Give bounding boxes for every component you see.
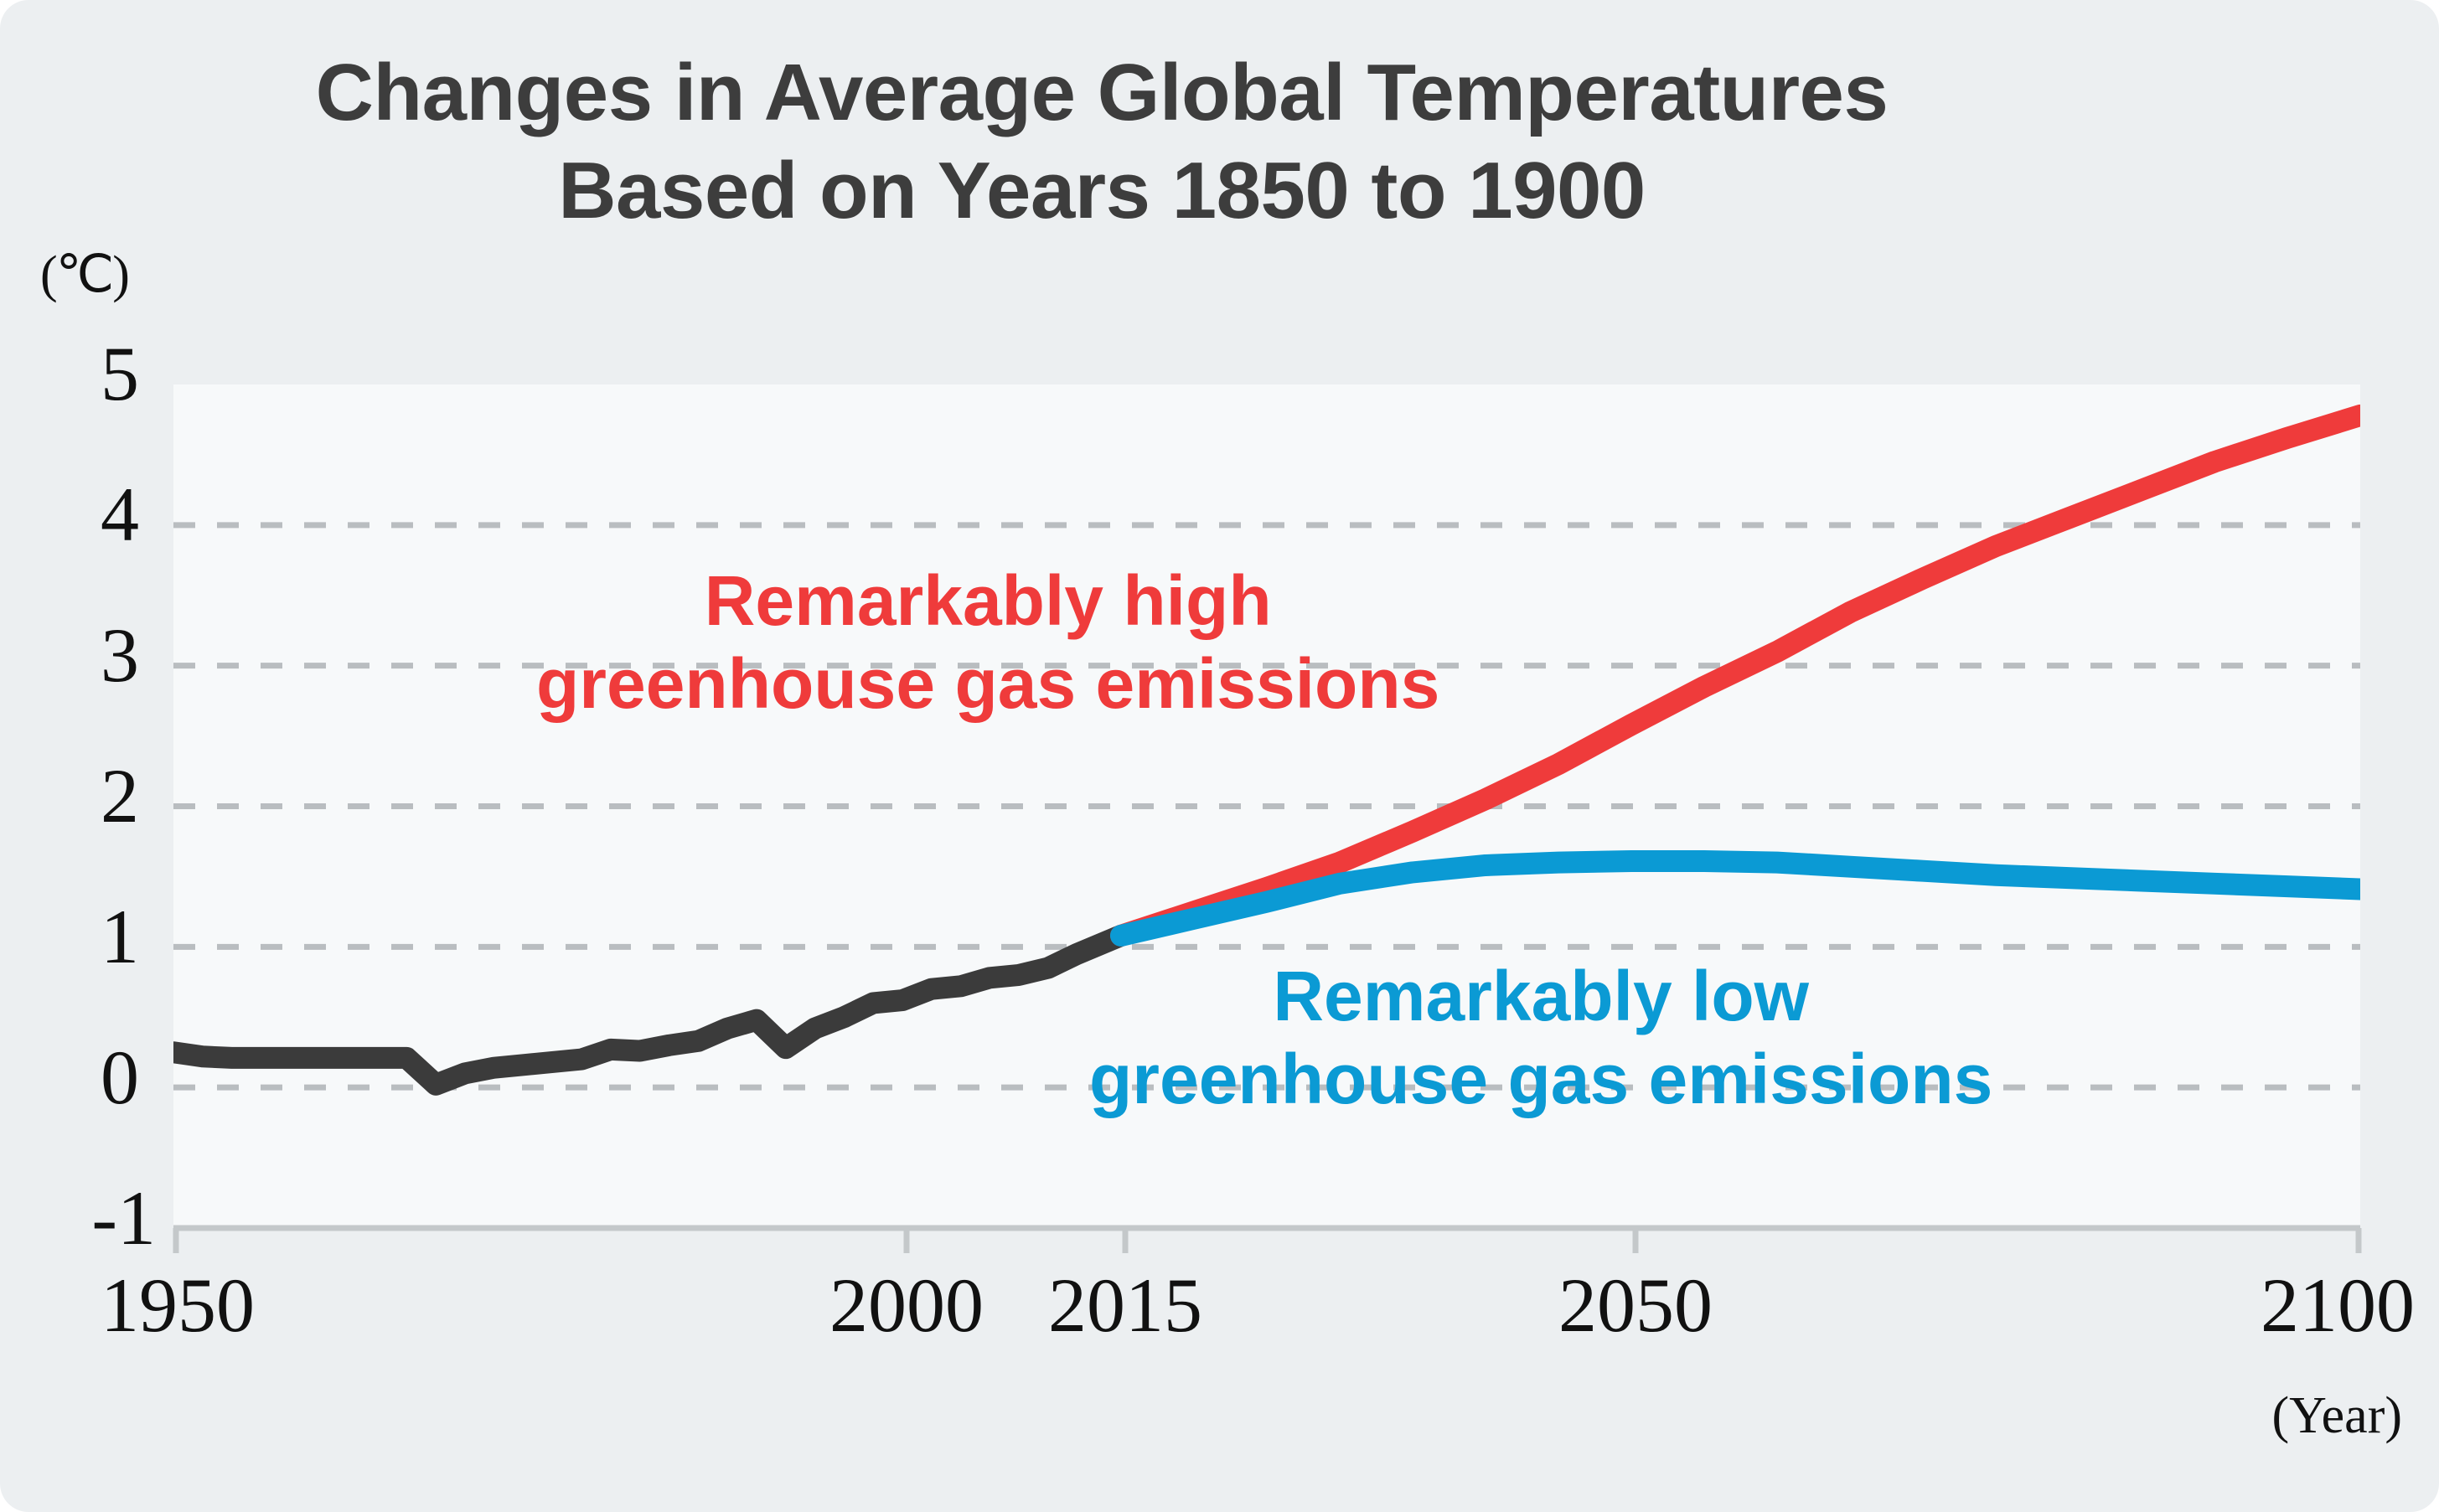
annotation-high-line-1: Remarkably high [536,560,1439,642]
series-line-0 [173,936,1121,1085]
x-tick-label-2000: 2000 [829,1267,984,1344]
annotation-low-line-2: greenhouse gas emissions [1089,1038,1992,1121]
y-tick-label-1: 1 [5,898,139,975]
x-tick-label-2015: 2015 [1048,1267,1202,1344]
x-tick-label-2050: 2050 [1558,1267,1713,1344]
y-tick-label-5: 5 [5,335,139,412]
chart-title-line-1: Changes in Average Global Temperatures [0,44,2204,142]
y-axis-unit-label: (℃) [40,243,128,305]
y-tick-label-neg1: -1 [22,1179,156,1257]
annotation-low-line-1: Remarkably low [1089,955,1992,1038]
chart-title: Changes in Average Global Temperatures B… [0,44,2204,240]
y-tick-label-4: 4 [5,476,139,553]
x-axis-unit-label: (Year) [2271,1386,2402,1446]
x-tick-label-2100: 2100 [2261,1267,2415,1344]
x-tick-label-1950: 1950 [101,1267,255,1344]
annotation-high-line-2: greenhouse gas emissions [536,642,1439,725]
annotation-high-emissions: Remarkably high greenhouse gas emissions [536,560,1439,725]
y-tick-label-0: 0 [5,1039,139,1116]
y-tick-label-3: 3 [5,617,139,694]
annotation-low-emissions: Remarkably low greenhouse gas emissions [1089,955,1992,1121]
y-tick-label-2: 2 [5,757,139,834]
chart-title-line-2: Based on Years 1850 to 1900 [0,142,2204,240]
chart-figure: Changes in Average Global Temperatures B… [0,0,2439,1512]
